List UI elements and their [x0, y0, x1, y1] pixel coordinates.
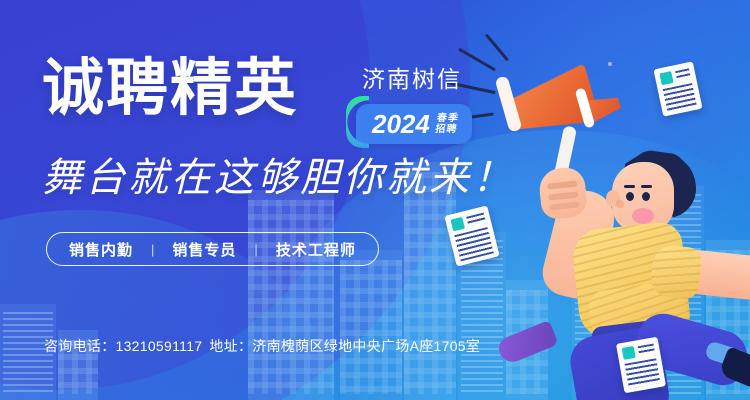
recruitment-badge: 2024 春季 招聘: [356, 104, 472, 144]
badge-subtext-top: 春季: [436, 114, 459, 124]
phone-label: 咨询电话：: [44, 338, 116, 354]
contact-footer: 咨询电话：13210591117地址：济南槐荫区绿地中央广场A座1705室: [44, 336, 480, 356]
company-name: 济南树信: [362, 68, 462, 91]
badge-subtext: 春季 招聘: [434, 114, 459, 135]
subheadline: 舞台就在这够胆你就来！: [42, 158, 515, 198]
job-separator: |: [254, 242, 257, 257]
badge-subtext-bottom: 招聘: [434, 125, 457, 135]
job-position-item[interactable]: 销售专员: [172, 239, 236, 260]
banner-content: 诚聘精英 济南树信 2024 春季 招聘 舞台就在这够胆你就来！ 销售内勤 | …: [0, 0, 750, 400]
job-position-item[interactable]: 销售内勤: [69, 239, 133, 260]
headline: 诚聘精英: [42, 58, 298, 120]
address-value: 济南槐荫区绿地中央广场A座1705室: [252, 338, 480, 354]
recruitment-banner: 诚聘精英 济南树信 2024 春季 招聘 舞台就在这够胆你就来！ 销售内勤 | …: [0, 0, 750, 400]
phone-number: 13210591117: [116, 338, 203, 354]
job-separator: |: [151, 242, 154, 257]
badge-year: 2024: [372, 111, 430, 137]
address-label: 地址：: [209, 338, 252, 354]
job-position-item[interactable]: 技术工程师: [276, 239, 356, 260]
job-positions-pill: 销售内勤 | 销售专员 | 技术工程师: [46, 232, 379, 266]
